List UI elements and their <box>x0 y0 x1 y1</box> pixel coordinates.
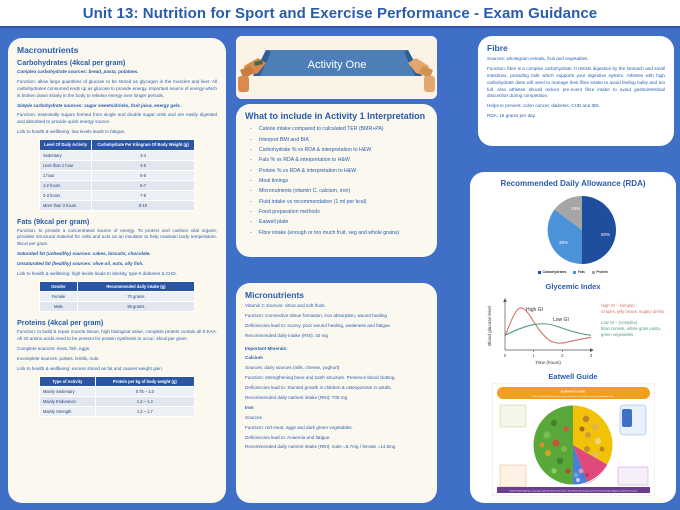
legend-label: Carbohydrates <box>542 270 566 274</box>
cell-value: 0.75 – 1.0 <box>95 387 194 397</box>
gi-series-label-high: High GI <box>526 307 543 313</box>
table-row: Mainly Sedentary 0.75 – 1.0 <box>40 387 195 397</box>
gi-xtick: 2 <box>561 353 564 358</box>
list-item: Micronutrients (vitamin C, calcium, iron… <box>245 187 428 197</box>
glycemic-index-chart: 0 1 2 3 Time (hours) Blood glucose level… <box>479 293 597 365</box>
cell-value: 3-4 <box>92 150 195 160</box>
proteins-heading: Proteins (4kcal per gram) <box>17 318 217 327</box>
rda-chart-title: Recommended Daily Allowance (RDA) <box>479 179 667 188</box>
table-row: Less than 1 hour 4-5 <box>40 160 195 170</box>
activity-banner-label: Activity One <box>308 59 367 71</box>
fats-intake-table: Gender Recommended daily intake (g) Fema… <box>39 281 195 312</box>
eatwell-callout-fruitveg <box>500 405 526 427</box>
protein-activity-table: Type of Activity Protein per kg of body … <box>39 376 195 417</box>
cell-value: 1.2 – 1.7 <box>95 407 194 417</box>
legend-item-carbohydrates: Carbohydrates <box>538 270 566 274</box>
fats-health-link: Link to health & wellbeing: high levels … <box>17 271 217 278</box>
list-item: Interpret BMI and BIA <box>245 135 428 145</box>
fats-heading: Fats (9kcal per gram) <box>17 217 217 226</box>
gi-chart-row: 0 1 2 3 Time (hours) Blood glucose level… <box>479 293 667 365</box>
list-item: Carbohydrate % vs RDA & interpretation t… <box>245 146 428 156</box>
legend-item-protein: Protein <box>592 270 608 274</box>
table-row: Female 70 grams <box>40 292 195 302</box>
list-item: Fibre intake (enough or too much fruit, … <box>245 228 428 238</box>
carbs-complex-function: Function: allow large quantities of gluc… <box>17 79 217 100</box>
activity-banner-graphic: Activity One <box>236 36 437 99</box>
table-header: Type of Activity <box>40 376 96 386</box>
activity-list: Calorie intake compared to calculated TE… <box>245 125 428 238</box>
cell-activity: Mainly Endurance <box>40 397 96 407</box>
fibre-panel: Fibre Sources: wholegrain cereals, fruit… <box>478 36 674 146</box>
legend-label: Fats <box>578 270 585 274</box>
cell-activity: Mainly Sedentary <box>40 387 96 397</box>
cell-gender: Female <box>40 292 78 302</box>
calcium-function: Function: strengthening bone and tooth s… <box>245 375 428 382</box>
vitaminc-deficiency: Deficiencies lead to: scurvy, poor wound… <box>245 323 428 330</box>
calcium-rni: Recommended daily nutrient intake (RNI):… <box>245 395 428 402</box>
micronutrients-title: Micronutrients <box>245 290 428 300</box>
poster-canvas: Unit 13: Nutrition for Sport and Exercis… <box>0 0 680 510</box>
legend-swatch-icon <box>538 271 541 274</box>
gi-xtick: 1 <box>532 353 535 358</box>
eatwell-banner-sub: Use the Eatwell Guide to help you get a … <box>532 395 613 398</box>
vitaminc-sources: Vitamin C sources: citrus and soft fruit… <box>245 303 428 310</box>
rda-pie-chart: 50% 35% 15% <box>479 190 680 268</box>
list-item: Calorie intake compared to calculated TE… <box>245 125 428 135</box>
activity-list-title: What to include in Activity 1 Interpreta… <box>245 111 428 121</box>
list-item: Fats % vs RDA & interpretation to H&W <box>245 156 428 166</box>
vitaminc-function: Function: Connective tissue formation, i… <box>245 313 428 320</box>
page-title: Unit 13: Nutrition for Sport and Exercis… <box>83 5 598 22</box>
table-header: Gender <box>40 281 78 291</box>
carbs-simple-function: Function: essentially sugars formed from… <box>17 112 217 126</box>
gi-chart-title: Glycemic Index <box>479 282 667 291</box>
table-row: Male 90 grams <box>40 302 195 312</box>
cell-value: 6-7 <box>92 180 195 190</box>
gi-series-label-low: Low GI <box>553 317 569 323</box>
iron-name: Iron <box>245 405 428 412</box>
calcium-deficiency: Deficiencies lead to: Stunted growth in … <box>245 385 428 392</box>
eatwell-footer-label: Public Health England in association wit… <box>509 489 636 492</box>
fats-unsaturated: Unsaturated fat (healthy) sources: olive… <box>17 261 217 268</box>
cell-gender: Male <box>40 302 78 312</box>
eatwell-title: Eatwell Guide <box>479 372 667 381</box>
table-row: Sedentary 3-4 <box>40 150 195 160</box>
legend-label: Protein <box>596 270 608 274</box>
eatwell-banner-label: Eatwell Guide <box>560 389 585 394</box>
table-row: 2-3 hours 7-8 <box>40 190 195 200</box>
legend-swatch-icon <box>573 271 576 274</box>
vitaminc-rni: Recommended daily intake (RNI): 40 mg <box>245 333 428 340</box>
eatwell-guide-image: Eatwell Guide Use the Eatwell Guide to h… <box>492 383 655 496</box>
cell-activity: Mainly Strength <box>40 407 96 417</box>
gi-annotation: green vegetables. <box>601 332 664 338</box>
table-header: Recommended daily intake (g) <box>77 281 194 291</box>
pie-slice-carbohydrates <box>582 196 616 264</box>
carbs-health-link: Link to health & wellbeing: low levels l… <box>17 129 217 136</box>
gi-annotations: High GI – (simple) Grapes, jelly beans, … <box>601 293 664 338</box>
proteins-incomplete: Incomplete sources: pulses, lentils, nut… <box>17 356 217 363</box>
cell-activity: 1-2 hours <box>40 180 92 190</box>
gi-annotation: Grapes, jelly beans, sugary drinks <box>601 309 664 315</box>
list-item: Protein % vs RDA & interpretation to H&W <box>245 166 428 176</box>
legend-swatch-icon <box>592 271 595 274</box>
table-header: Carbohydrate Per Kilogram Of Body Weight… <box>92 140 195 150</box>
iron-deficiency: Deficiencies lead to: Anaemia and fatigu… <box>245 435 428 442</box>
calcium-name: Calcium <box>245 355 428 362</box>
table-row: 1 hour 5-6 <box>40 170 195 180</box>
gi-xtick: 3 <box>590 353 593 358</box>
pie-label-fats: 35% <box>559 240 568 245</box>
activity-interpretation-panel: What to include in Activity 1 Interpreta… <box>236 104 437 257</box>
proteins-complete: Complete sources: meat, fish, eggs. <box>17 346 217 353</box>
activity-banner: Activity One <box>236 36 437 99</box>
carbs-complex-sources: Complex carbohydrate sources: bread, pas… <box>17 69 217 76</box>
cell-value: 70 grams <box>77 292 194 302</box>
table-header: Protein per kg of body weight (g) <box>95 376 194 386</box>
list-item: Eatwell plate <box>245 218 428 228</box>
eatwell-callout-label <box>618 467 648 485</box>
legend-item-fats: Fats <box>573 270 584 274</box>
micronutrients-panel: Micronutrients Vitamin C sources: citrus… <box>236 283 437 503</box>
pie-label-protein: 15% <box>571 206 580 211</box>
fibre-rda: RDA: 18 grams per day. <box>487 113 665 120</box>
cell-value: 4-5 <box>92 160 195 170</box>
eatwell-plate <box>533 405 613 485</box>
list-item: Food preparation methods <box>245 208 428 218</box>
table-row: More than 3 hours 8-10 <box>40 200 195 210</box>
cell-value: 90 grams <box>77 302 194 312</box>
minerals-heading: Important Minerals: <box>245 346 428 353</box>
poster-header: Unit 13: Nutrition for Sport and Exercis… <box>0 0 680 28</box>
cell-value: 5-6 <box>92 170 195 180</box>
carbohydrate-activity-table: Level Of Daily Activity Carbohydrate Per… <box>39 139 195 210</box>
table-row: 1-2 hours 6-7 <box>40 180 195 190</box>
gi-series-low <box>505 324 591 336</box>
cell-activity: Sedentary <box>40 150 92 160</box>
pie-label-carbohydrates: 50% <box>601 232 610 237</box>
cell-activity: 2-3 hours <box>40 190 92 200</box>
gi-ylabel: Blood glucose level <box>487 306 492 346</box>
macronutrients-title: Macronutrients <box>17 45 217 55</box>
proteins-health-link: Link to health & wellbeing: excess store… <box>17 366 217 373</box>
list-item: Meal timings <box>245 177 428 187</box>
gi-xlabel: Time (hours) <box>535 360 561 365</box>
table-row: Mainly Strength 1.2 – 1.7 <box>40 407 195 417</box>
cell-value: 7-8 <box>92 190 195 200</box>
gi-xtick: 0 <box>504 353 507 358</box>
iron-sources: Sources. <box>245 415 428 422</box>
gi-series-high <box>505 308 591 343</box>
fibre-function: Function: fibre is a complex carbohydrat… <box>487 66 665 100</box>
fibre-title: Fibre <box>487 43 665 53</box>
cell-value: 8-10 <box>92 200 195 210</box>
iron-function: Function: red meat, eggs and dark green … <box>245 425 428 432</box>
fats-function: Function: to provide a concentrated sour… <box>17 228 217 249</box>
cell-activity: 1 hour <box>40 170 92 180</box>
cell-activity: Less than 1 hour <box>40 160 92 170</box>
table-header: Level Of Daily Activity <box>40 140 92 150</box>
fats-saturated: Saturated fat (unhealthy) sources: cakes… <box>17 251 217 258</box>
eatwell-bottle-icon <box>622 409 632 427</box>
list-item: Fluid intake vs recommendation (1 ml per… <box>245 197 428 207</box>
fibre-sources: Sources: wholegrain cereals, fruit and v… <box>487 56 665 63</box>
eatwell-callout-oils <box>500 465 526 487</box>
cell-value: 1.2 – 1.4 <box>95 397 194 407</box>
table-row: Mainly Endurance 1.2 – 1.4 <box>40 397 195 407</box>
rda-pie-legend: Carbohydrates Fats Protein <box>479 270 667 274</box>
proteins-function: Function: to build & repair muscle tissu… <box>17 329 217 343</box>
cell-activity: More than 3 hours <box>40 200 92 210</box>
macronutrients-panel: Macronutrients Carbohydrates (4kcal per … <box>8 38 226 503</box>
charts-panel: Recommended Daily Allowance (RDA) 50% 35… <box>470 172 676 503</box>
fibre-prevention: Helps to prevent: colon cancer, diabetes… <box>487 103 665 110</box>
calcium-sources: Sources: dairy sources (milk, cheese, yo… <box>245 365 428 372</box>
carbs-simple-sources: Simple carbohydrate sources: sugar sweet… <box>17 103 217 110</box>
carbohydrates-heading: Carbohydrates (4kcal per gram) <box>17 58 217 67</box>
iron-rni: Recommended daily nutrient intake (RNI):… <box>245 444 428 451</box>
